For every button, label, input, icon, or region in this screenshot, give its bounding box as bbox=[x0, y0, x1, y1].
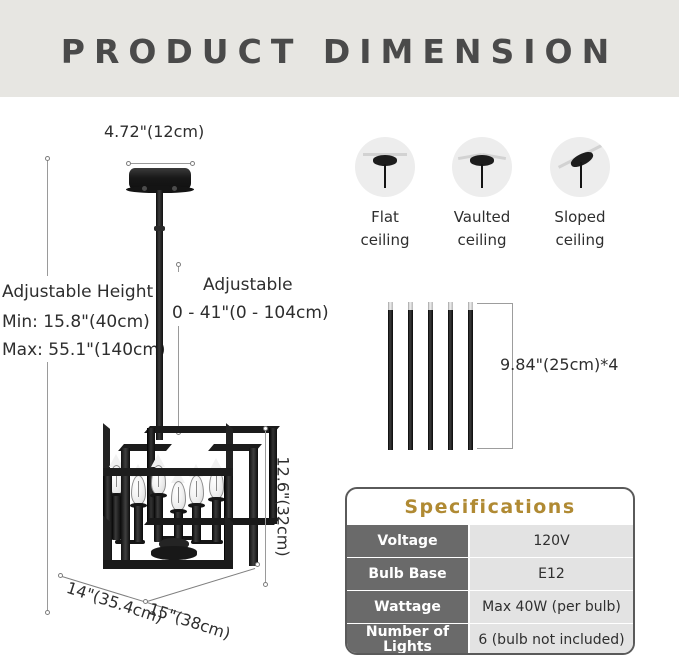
cage-bottom-front-bar bbox=[103, 560, 233, 569]
vaulted-ceiling-label-1: Vaulted bbox=[436, 207, 528, 228]
specifications-table: Specifications Voltage 120V Bulb Base E1… bbox=[345, 487, 635, 655]
rod-bracket-side bbox=[512, 303, 513, 448]
spec-key-wattage: Wattage bbox=[347, 591, 468, 623]
extension-rod bbox=[408, 310, 413, 450]
cage-plate-left bbox=[121, 448, 130, 566]
vaulted-ceiling-icon bbox=[452, 137, 512, 197]
canopy-width-dimension-line bbox=[129, 163, 193, 164]
extension-rod bbox=[388, 310, 393, 450]
fixture-width-label: 15"(38cm) bbox=[146, 599, 233, 643]
page-title: PRODUCT DIMENSION bbox=[0, 32, 679, 71]
cage-top-back-bar bbox=[144, 426, 280, 433]
flat-ceiling-label-2: ceiling bbox=[339, 230, 431, 251]
rod-length-label: 9.84"(25cm)*4 bbox=[500, 355, 618, 374]
cage-plate-right bbox=[249, 448, 258, 566]
canopy-width-right-marker bbox=[190, 161, 195, 166]
cage-bottom-back-bar bbox=[144, 518, 280, 525]
depth-left-marker bbox=[58, 573, 63, 578]
canopy-screw bbox=[172, 186, 177, 191]
candle-bulb bbox=[189, 475, 204, 505]
table-row: Voltage 120V bbox=[347, 525, 633, 557]
lamp-hub bbox=[151, 546, 197, 560]
adjustable-range-label: 0 - 41"(0 - 104cm) bbox=[172, 303, 329, 323]
candle-sleeve bbox=[134, 506, 143, 542]
spec-value-bulb-base: E12 bbox=[470, 558, 633, 590]
product-dimension-infographic: PRODUCT DIMENSION Adjustable Height Min:… bbox=[0, 0, 679, 661]
ceiling-option-sloped: Sloped ceiling bbox=[534, 137, 626, 251]
table-row: Number of Lights 6 (bulb not included) bbox=[347, 624, 633, 655]
ceiling-option-vaulted: Vaulted ceiling bbox=[436, 137, 528, 251]
flat-ceiling-label-1: Flat bbox=[339, 207, 431, 228]
extension-rod bbox=[468, 310, 473, 450]
adjustable-height-title: Adjustable Height bbox=[2, 282, 153, 302]
rod-tip bbox=[448, 302, 453, 310]
canopy-screw bbox=[142, 186, 147, 191]
rod-tip bbox=[408, 302, 413, 310]
width-right-marker bbox=[255, 562, 260, 567]
spec-value-voltage: 120V bbox=[470, 525, 633, 557]
spec-value-wattage: Max 40W (per bulb) bbox=[470, 591, 633, 623]
cage-bottom-left-bar bbox=[103, 516, 111, 567]
rod-tip bbox=[428, 302, 433, 310]
canopy-width-label: 4.72"(12cm) bbox=[104, 122, 204, 141]
chandelier-cage bbox=[63, 420, 278, 595]
adjustable-height-max: Max: 55.1"(140cm) bbox=[2, 340, 166, 360]
cage-top-front-bar bbox=[103, 468, 233, 476]
spec-key-number-of-lights: Number of Lights bbox=[347, 624, 468, 655]
candle-sleeve bbox=[112, 496, 121, 540]
table-row: Bulb Base E12 bbox=[347, 558, 633, 590]
fixture-height-label: 12.6"(32cm) bbox=[274, 456, 293, 556]
adjustable-height-min: Min: 15.8"(40cm) bbox=[2, 312, 150, 332]
adjustable-rod-top-marker bbox=[176, 262, 181, 267]
rod-joint bbox=[154, 226, 165, 231]
sloped-ceiling-label-1: Sloped bbox=[534, 207, 626, 228]
vaulted-ceiling-label-2: ceiling bbox=[436, 230, 528, 251]
total-height-bottom-marker bbox=[45, 610, 50, 615]
canopy-width-left-marker bbox=[126, 161, 131, 166]
flat-ceiling-icon bbox=[355, 137, 415, 197]
candle-bulb bbox=[171, 481, 186, 511]
specifications-title: Specifications bbox=[347, 489, 633, 525]
sloped-ceiling-label-2: ceiling bbox=[534, 230, 626, 251]
cage-bottom-right-bar bbox=[225, 516, 233, 567]
spec-key-voltage: Voltage bbox=[347, 525, 468, 557]
rod-bracket-bottom bbox=[477, 448, 513, 449]
rod-tip bbox=[468, 302, 473, 310]
adjustable-label: Adjustable bbox=[203, 275, 293, 295]
extension-rod bbox=[448, 310, 453, 450]
total-height-dimension-line bbox=[47, 160, 48, 612]
rod-bracket-top bbox=[477, 303, 513, 304]
fixture-height-bottom-marker bbox=[263, 582, 268, 587]
sloped-ceiling-icon bbox=[550, 137, 610, 197]
ceiling-option-flat: Flat ceiling bbox=[339, 137, 431, 251]
extension-rod bbox=[428, 310, 433, 450]
spec-key-bulb-base: Bulb Base bbox=[347, 558, 468, 590]
fixture-height-dimension-line bbox=[265, 430, 266, 585]
spec-value-number-of-lights: 6 (bulb not included) bbox=[470, 624, 633, 655]
total-height-top-marker bbox=[45, 156, 50, 161]
candle-bulb bbox=[131, 475, 146, 505]
table-row: Wattage Max 40W (per bulb) bbox=[347, 591, 633, 623]
fixture-height-top-marker bbox=[263, 426, 268, 431]
rod-tip bbox=[388, 302, 393, 310]
